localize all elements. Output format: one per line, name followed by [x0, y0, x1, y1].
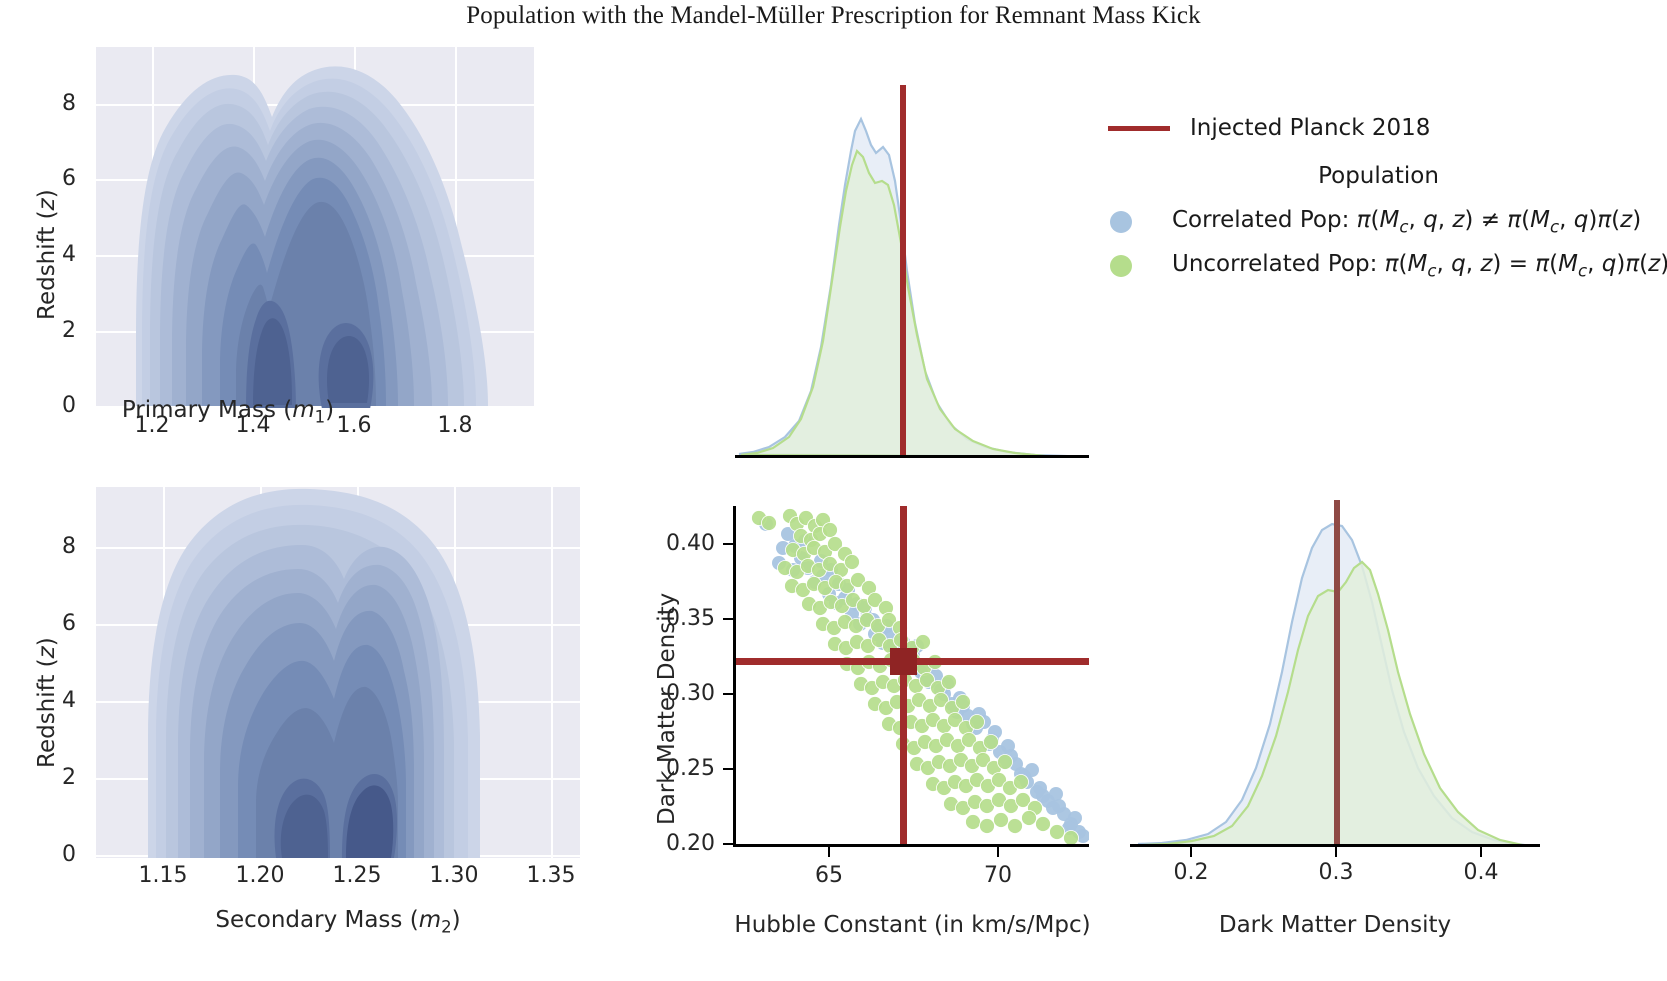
axis-spine-bottom: [733, 844, 1089, 847]
axis-spine-left: [733, 506, 736, 846]
xtick-mark: [1480, 847, 1482, 857]
yaxis-label-text: Redshift (: [34, 658, 60, 768]
xtick-label: 1.30: [400, 863, 508, 888]
kde-area-uncorrelated: [741, 151, 1087, 457]
legend-row-correlated[interactable]: Correlated Pop: π(Mc, q, z) ≠ π(Mc, q)π(…: [1090, 202, 1667, 242]
xaxis-label-subscript: 1: [315, 408, 326, 427]
legend-group-title-row: Population: [1090, 156, 1667, 196]
legend-label-injected: Injected Planck 2018: [1190, 115, 1430, 141]
ytick-mark: [723, 768, 733, 770]
injected-line-swatch-icon: [1108, 126, 1170, 131]
xaxis-label-symbol: m: [419, 907, 441, 933]
xaxis-label-hubble-constant: Hubble Constant (in km/s/Mpc): [725, 912, 1100, 938]
ytick-label: 2: [54, 318, 84, 343]
yaxis-label-symbol: z: [34, 198, 60, 210]
xtick-label: 65: [799, 863, 859, 888]
figure-root: Population with the Mandel-Müller Prescr…: [0, 0, 1667, 981]
yaxis-label-redshift-bottom: Redshift (z): [34, 637, 60, 768]
yaxis-label-dark-matter-density: Dark Matter Density: [654, 593, 680, 825]
xaxis-label-dark-matter-density: Dark Matter Density: [1130, 912, 1540, 938]
xtick-label: 0.2: [1151, 860, 1231, 885]
xtick-mark: [1335, 847, 1337, 857]
xtick-mark: [997, 847, 999, 857]
panel-kde-secondary-mass: 8 6 4 2 0 1.15 1.20 1.25 1.30 1.35: [96, 487, 580, 858]
xaxis-label-symbol: m: [292, 397, 314, 423]
xtick-label: 1.8: [413, 413, 497, 438]
xtick-mark: [828, 847, 830, 857]
legend-relation-uncorrelated: =: [1509, 251, 1528, 277]
ytick-label: 8: [54, 91, 84, 116]
ytick-mark: [723, 693, 733, 695]
kde-curves-hubble: [735, 85, 1089, 457]
legend-label-uncorrelated: Uncorrelated Pop: π(Mc, q, z) = π(Mc, q)…: [1172, 251, 1667, 281]
injected-planck-line-hubble-scatter: [900, 506, 907, 846]
correlated-dot-swatch-icon: [1110, 211, 1132, 233]
xtick-label: 1.15: [109, 863, 217, 888]
legend-label-correlated-prefix: Correlated Pop:: [1172, 207, 1357, 233]
legend-group-title: Population: [1090, 163, 1667, 189]
kde-contours-secondary-mass: [96, 487, 580, 858]
xtick-label: 1.25: [303, 863, 411, 888]
yaxis-label-text: Redshift (: [34, 210, 60, 320]
xtick-label: 70: [968, 863, 1028, 888]
ytick-mark: [723, 543, 733, 545]
xtick-label: 1.35: [497, 863, 605, 888]
xaxis-label-text: Primary Mass (: [122, 397, 292, 423]
ytick-mark: [723, 618, 733, 620]
panel-marginal-hubble: [735, 85, 1089, 457]
scatter-points: [735, 506, 1089, 846]
xtick-label: 1.20: [206, 863, 314, 888]
legend-label-correlated: Correlated Pop: π(Mc, q, z) ≠ π(Mc, q)π(…: [1172, 207, 1641, 237]
yaxis-label-redshift-top: Redshift (z): [34, 189, 60, 320]
ytick-label: 0: [54, 393, 84, 418]
axis-baseline: [735, 455, 1089, 458]
panel-scatter-hubble-darkmatter: 0.40 0.35 0.30 0.25 0.20 65 70: [735, 506, 1089, 846]
xtick-label: 0.4: [1441, 860, 1521, 885]
ytick-label: 0.20: [643, 831, 715, 856]
panel-kde-primary-mass: 8 6 4 2 0 1.2 1.4 1.6 1.8: [96, 47, 534, 408]
xtick-label: 0.3: [1296, 860, 1376, 885]
xtick-mark: [1190, 847, 1192, 857]
panel-marginal-darkmatter: 0.2 0.3 0.4: [1130, 500, 1540, 846]
xaxis-label-subscript: 2: [441, 918, 452, 937]
injected-planck-line-darkmatter-marginal: [1334, 500, 1340, 846]
figure-legend: Injected Planck 2018 Population Correlat…: [1090, 108, 1667, 286]
ytick-mark: [723, 843, 733, 845]
figure-title: Population with the Mandel-Müller Prescr…: [0, 2, 1667, 30]
ytick-label: 6: [54, 166, 84, 191]
ytick-label: 8: [54, 534, 84, 559]
ytick-label: 6: [54, 611, 84, 636]
kde-contours-primary-mass: [96, 47, 534, 408]
yaxis-label-symbol: z: [34, 646, 60, 658]
legend-relation-correlated: ≠: [1481, 207, 1500, 233]
ytick-label: 2: [54, 765, 84, 790]
injected-planck-marker: [890, 648, 917, 675]
scatter-uncorrelated-points: [752, 509, 1079, 846]
xaxis-label-text: Secondary Mass (: [215, 907, 418, 933]
legend-row-uncorrelated[interactable]: Uncorrelated Pop: π(Mc, q, z) = π(Mc, q)…: [1090, 246, 1667, 286]
injected-planck-line-hubble: [900, 85, 906, 457]
ytick-label: 0: [54, 842, 84, 867]
uncorrelated-dot-swatch-icon: [1110, 255, 1132, 277]
legend-label-uncorrelated-prefix: Uncorrelated Pop:: [1172, 251, 1385, 277]
legend-row-injected[interactable]: Injected Planck 2018: [1090, 108, 1667, 148]
ytick-label: 0.40: [643, 531, 715, 556]
